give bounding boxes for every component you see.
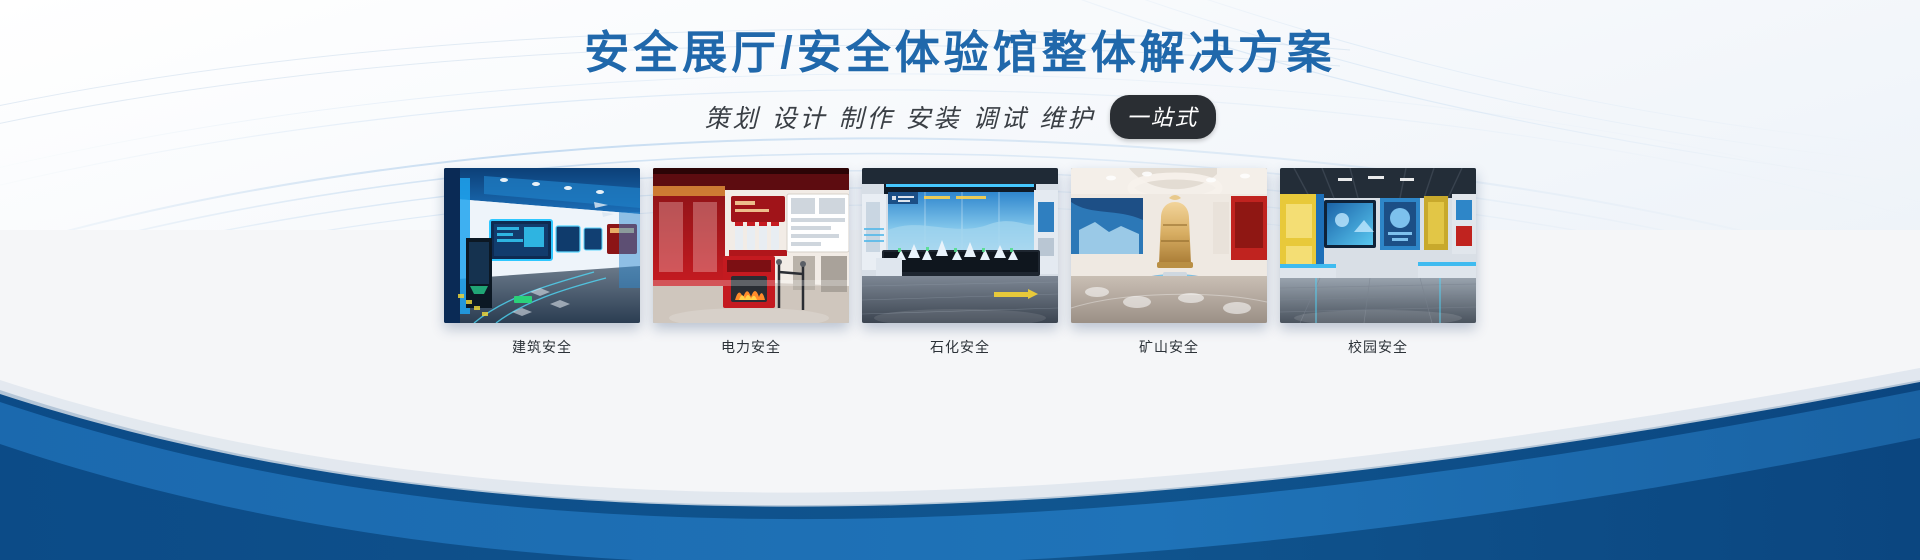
subtitle-row: 策划设计制作安装调试维护 一站式 bbox=[0, 95, 1920, 139]
case-card-campus[interactable]: 校园安全 bbox=[1280, 168, 1476, 357]
electric-power-safety-hall-image bbox=[653, 168, 849, 323]
service-step: 策划 bbox=[704, 105, 760, 133]
service-step: 制作 bbox=[838, 105, 894, 133]
case-thumbnail[interactable] bbox=[653, 168, 849, 323]
service-steps: 策划设计制作安装调试维护 bbox=[704, 99, 1095, 135]
service-step: 设计 bbox=[771, 105, 827, 133]
page-title: 安全展厅/安全体验馆整体解决方案 bbox=[0, 26, 1920, 79]
case-caption: 矿山安全 bbox=[1071, 337, 1267, 357]
case-thumbnail[interactable] bbox=[1071, 168, 1267, 323]
case-caption: 校园安全 bbox=[1280, 337, 1476, 357]
construction-safety-hall-image bbox=[444, 168, 640, 323]
case-card-list: 建筑安全 bbox=[444, 168, 1476, 357]
header-block: 安全展厅/安全体验馆整体解决方案 策划设计制作安装调试维护 一站式 bbox=[0, 0, 1920, 139]
service-step: 调试 bbox=[973, 105, 1029, 133]
case-card-mining[interactable]: 矿山安全 bbox=[1071, 168, 1267, 357]
case-thumbnail[interactable] bbox=[444, 168, 640, 323]
case-thumbnail[interactable] bbox=[1280, 168, 1476, 323]
case-thumbnail[interactable] bbox=[862, 168, 1058, 323]
case-caption: 石化安全 bbox=[862, 337, 1058, 357]
campus-safety-hall-image bbox=[1280, 168, 1476, 323]
case-card-petrochemical[interactable]: 石化安全 bbox=[862, 168, 1058, 357]
service-step: 安装 bbox=[905, 105, 961, 133]
mining-safety-hall-image bbox=[1071, 168, 1267, 323]
case-caption: 建筑安全 bbox=[444, 337, 640, 357]
banner-root: 安全展厅/安全体验馆整体解决方案 策划设计制作安装调试维护 一站式 bbox=[0, 0, 1920, 560]
one-stop-badge: 一站式 bbox=[1110, 95, 1216, 139]
petrochemical-safety-hall-image bbox=[862, 168, 1058, 323]
case-card-electric-power[interactable]: 电力安全 bbox=[653, 168, 849, 357]
case-caption: 电力安全 bbox=[653, 337, 849, 357]
case-card-construction[interactable]: 建筑安全 bbox=[444, 168, 640, 357]
service-step: 维护 bbox=[1040, 105, 1096, 133]
